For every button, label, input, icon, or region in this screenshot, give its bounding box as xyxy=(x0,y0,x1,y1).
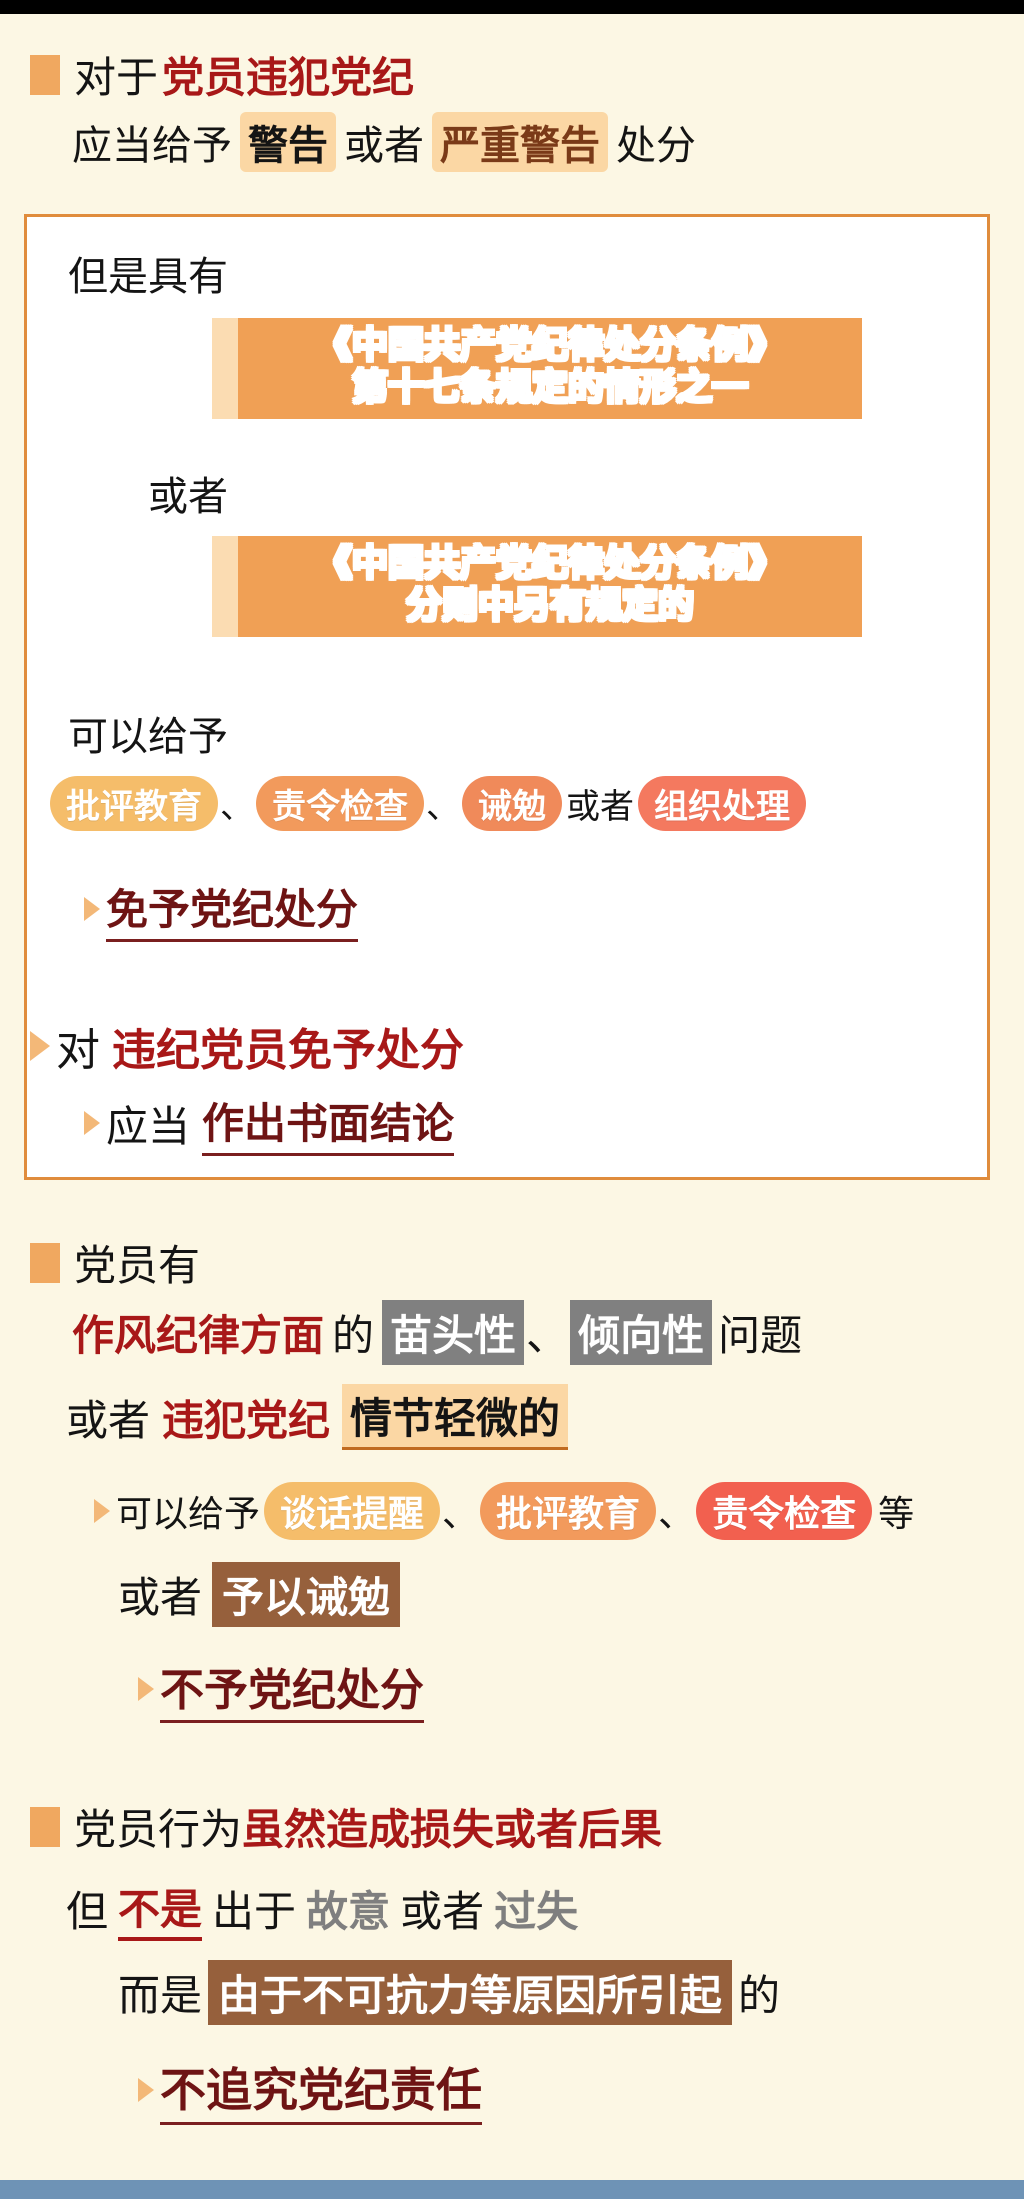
section-2-heading: 党员有 xyxy=(30,1232,200,1293)
section-3-line3-lead: 而是 xyxy=(118,1962,202,2023)
orange-square-bullet-icon xyxy=(30,1807,60,1847)
section-3-line2-mid: 出于 xyxy=(212,1878,296,1939)
chip-tendency: 倾向性 xyxy=(570,1300,712,1365)
banner-1-line-2: 第十七条规定的情形之一 xyxy=(256,366,844,408)
section-3-intent: 故意 xyxy=(306,1878,390,1939)
section-1-line2-mid: 或者 xyxy=(344,113,424,171)
box-may-give: 可以给予 xyxy=(68,704,228,762)
triangle-bullet-icon xyxy=(84,1111,100,1135)
pill-or: 或者 xyxy=(566,779,634,828)
section-1-heading-plain: 对于 xyxy=(74,44,158,105)
banner-1-body: 《中国共产党纪律处分条例》 第十七条规定的情形之一 xyxy=(238,318,862,419)
chip-serious-warning: 严重警告 xyxy=(432,112,608,172)
box-result-row: 免予党纪处分 xyxy=(84,876,358,942)
pill-sep-2: 、 xyxy=(426,779,460,828)
pill-organizational-handling[interactable]: 组织处理 xyxy=(638,776,806,831)
section-2-line3-emphasis: 违犯党纪 xyxy=(162,1387,330,1448)
section-3-heading: 党员行为 虽然造成损失或者后果 xyxy=(30,1796,662,1857)
section-2-de: 的 xyxy=(332,1302,374,1363)
banner-2-body: 《中国共产党纪律处分条例》 分则中另有规定的 xyxy=(238,536,862,637)
pill-criticism-education-2[interactable]: 批评教育 xyxy=(480,1482,656,1540)
section-2-heading-text: 党员有 xyxy=(74,1232,200,1293)
box-sub-emphasis: 作出书面结论 xyxy=(202,1090,454,1156)
section-2-sep-1: 、 xyxy=(442,1485,478,1537)
section-3-result: 不追究党纪责任 xyxy=(160,2054,482,2125)
section-1-heading-emphasis: 党员违犯党纪 xyxy=(162,44,414,105)
section-2-line3-lead: 或者 xyxy=(66,1387,150,1448)
pill-order-inspection[interactable]: 责令检查 xyxy=(256,776,424,831)
pill-sep-1: 、 xyxy=(220,779,254,828)
section-3-or: 或者 xyxy=(400,1878,484,1939)
section-2-line4: 可以给予 谈话提醒 、 批评教育 、 责令检查 等 xyxy=(94,1482,914,1540)
section-2-tail: 问题 xyxy=(718,1302,802,1363)
pill-talk-reminder[interactable]: 谈话提醒 xyxy=(264,1482,440,1540)
section-2-emphasis: 作风纪律方面 xyxy=(72,1302,324,1363)
regulation-banner-1: 《中国共产党纪律处分条例》 第十七条规定的情形之一 xyxy=(212,318,862,419)
banner-1-tab xyxy=(212,318,238,419)
section-3-line3: 而是 由于不可抗力等原因所引起 的 xyxy=(118,1960,780,2025)
chip-warning: 警告 xyxy=(240,112,336,172)
section-2-result-row: 不予党纪处分 xyxy=(138,1654,424,1723)
triangle-bullet-icon xyxy=(138,2078,154,2102)
section-2-line2: 作风纪律方面 的 苗头性 、 倾向性 问题 xyxy=(72,1300,802,1365)
section-3-heading-plain: 党员行为 xyxy=(74,1796,242,1857)
top-black-bar xyxy=(0,0,1024,14)
section-2-line4-lead: 可以给予 xyxy=(116,1485,260,1537)
orange-square-bullet-icon xyxy=(30,1243,60,1283)
box-conclusion-emphasis: 违纪党员免予处分 xyxy=(112,1014,464,1078)
section-2-result: 不予党纪处分 xyxy=(160,1654,424,1723)
slide-page: 对于 党员违犯党纪 应当给予 警告 或者 严重警告 处分 但是具有 《中国共产党… xyxy=(0,14,1024,2180)
bottom-blue-bar xyxy=(0,2180,1024,2199)
section-3-line2: 但 不是 出于 故意 或者 过失 xyxy=(66,1876,578,1941)
box-sub-lead: 应当 xyxy=(106,1093,190,1154)
box-connector: 或者 xyxy=(148,464,228,522)
chip-incipient: 苗头性 xyxy=(382,1300,524,1365)
section-1-heading: 对于 党员违犯党纪 xyxy=(30,44,414,105)
box-result-text: 免予党纪处分 xyxy=(106,876,358,942)
box-conclusion-lead: 对 xyxy=(56,1014,100,1078)
section-2-sep-2: 、 xyxy=(658,1485,694,1537)
section-2-line5: 或者 予以诫勉 xyxy=(118,1562,400,1627)
section-1-line2-tail: 处分 xyxy=(616,113,696,171)
measure-pill-row: 批评教育 、 责令检查 、 诫勉 或者 组织处理 xyxy=(50,776,806,831)
section-2-line4-tail: 等 xyxy=(878,1485,914,1537)
triangle-bullet-icon xyxy=(30,1031,50,1061)
section-3-line2-lead: 但 xyxy=(66,1878,108,1939)
section-1-line2: 应当给予 警告 或者 严重警告 处分 xyxy=(72,112,696,172)
section-1-line2-lead: 应当给予 xyxy=(72,113,232,171)
banner-2-line-1: 《中国共产党纪律处分条例》 xyxy=(256,542,844,584)
section-2-line5-lead: 或者 xyxy=(118,1564,202,1625)
section-3-heading-emphasis: 虽然造成损失或者后果 xyxy=(242,1796,662,1857)
pill-admonishment[interactable]: 诫勉 xyxy=(462,776,562,831)
chip-minor-circumstances: 情节轻微的 xyxy=(342,1384,568,1450)
triangle-bullet-icon xyxy=(84,897,100,921)
chip-force-majeure: 由于不可抗力等原因所引起 xyxy=(208,1960,732,2025)
triangle-bullet-icon xyxy=(138,1677,154,1701)
section-3-negligence: 过失 xyxy=(494,1878,578,1939)
pill-order-inspection-2[interactable]: 责令检查 xyxy=(696,1482,872,1540)
section-2-line3: 或者 违犯党纪 情节轻微的 xyxy=(66,1384,568,1450)
triangle-bullet-icon xyxy=(94,1499,110,1523)
orange-square-bullet-icon xyxy=(30,55,60,95)
banner-2-tab xyxy=(212,536,238,637)
chip-give-admonishment: 予以诫勉 xyxy=(212,1562,400,1627)
section-2-sep: 、 xyxy=(526,1302,568,1363)
banner-2-line-2: 分则中另有规定的 xyxy=(256,584,844,626)
box-subconclusion-row: 应当 作出书面结论 xyxy=(84,1090,454,1156)
box-conclusion-row: 对 违纪党员免予处分 xyxy=(30,1014,464,1078)
section-3-line3-tail: 的 xyxy=(738,1962,780,2023)
section-3-negation: 不是 xyxy=(118,1876,202,1941)
box-intro: 但是具有 xyxy=(68,244,228,302)
regulation-banner-2: 《中国共产党纪律处分条例》 分则中另有规定的 xyxy=(212,536,862,637)
pill-criticism-education[interactable]: 批评教育 xyxy=(50,776,218,831)
banner-1-line-1: 《中国共产党纪律处分条例》 xyxy=(256,324,844,366)
section-3-result-row: 不追究党纪责任 xyxy=(138,2054,482,2125)
